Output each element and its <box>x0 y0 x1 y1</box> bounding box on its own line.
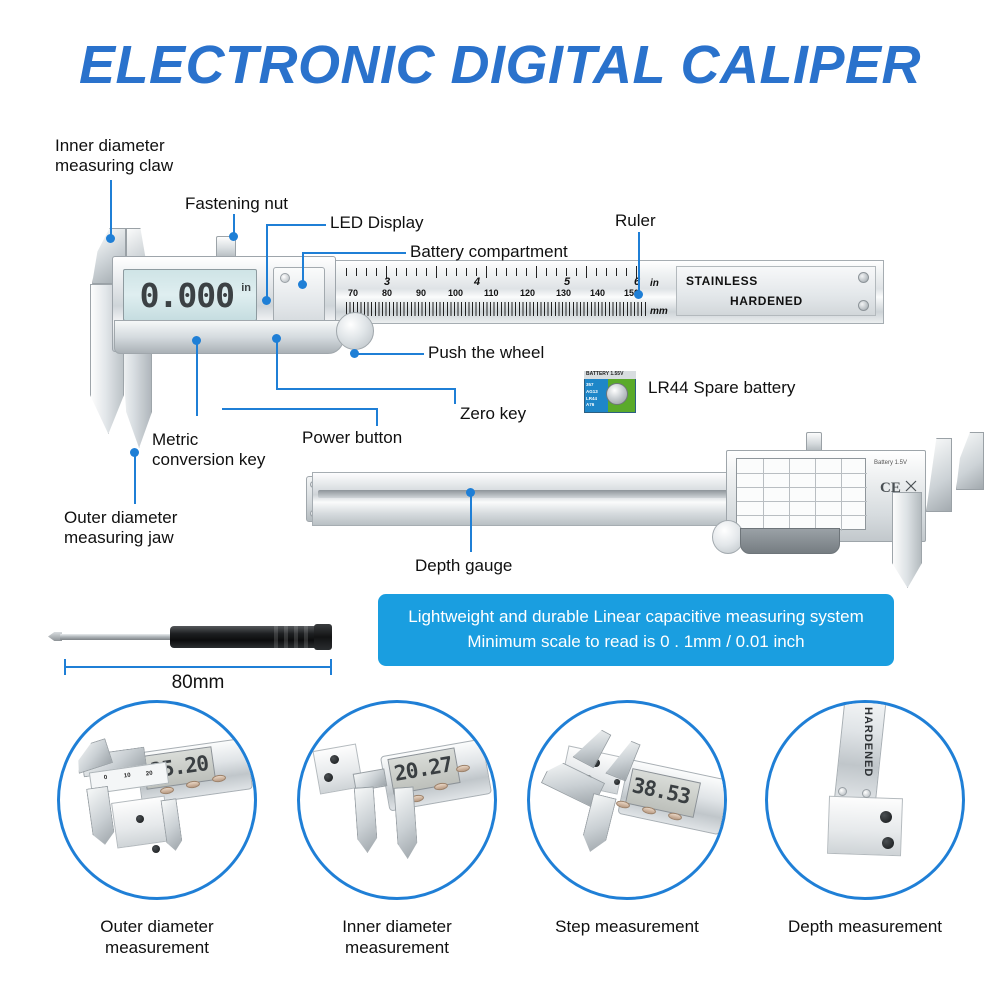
leader-line <box>302 252 406 254</box>
use-case-outer-diameter: 35.20 0 10 20 Outer diameter measurement <box>42 700 272 959</box>
lock-clamp[interactable] <box>740 528 840 554</box>
label-battery-compartment: Battery compartment <box>410 242 568 262</box>
upper-jaw-back <box>926 438 952 512</box>
use-case-caption: Outer diameter measurement <box>42 916 272 959</box>
ruler-inch-label: 5 <box>564 276 570 288</box>
ruler-unit-inch: in <box>650 278 659 289</box>
slider-body <box>114 320 344 354</box>
leader-dot <box>106 234 115 243</box>
ruler-scale: 3 4 5 6 70 80 90 100 110 120 130 140 150 <box>346 262 646 322</box>
use-case-photo: 38.53 <box>527 700 727 900</box>
use-case-gallery: 35.20 0 10 20 Outer diameter measurement <box>0 700 1000 1000</box>
use-case-inner-diameter: 20.27 Inner diameter measurement <box>282 700 512 959</box>
label-led-display: LED Display <box>330 213 424 233</box>
hardened-text: HARDENED <box>730 294 803 308</box>
ruler-mm-label: 120 <box>520 288 535 298</box>
use-case-caption: Step measurement <box>512 916 742 937</box>
use-case-photo: 35.20 0 10 20 <box>57 700 257 900</box>
ruler-mm-label: 80 <box>382 288 392 298</box>
label-fastening-nut: Fastening nut <box>185 194 288 214</box>
leader-line <box>356 353 424 355</box>
hardened-text-depth: HARDENED <box>862 707 874 777</box>
leader-dot <box>192 336 201 345</box>
leader-line <box>276 388 456 390</box>
label-metric-key: Metric conversion key <box>152 430 265 470</box>
label-outer-jaw: Outer diameter measuring jaw <box>64 508 177 548</box>
ruler-inch-label: 3 <box>384 276 390 288</box>
ruler-mm-label: 70 <box>348 288 358 298</box>
leader-line <box>134 452 136 504</box>
leader-dot <box>298 280 307 289</box>
leader-line <box>470 492 472 552</box>
leader-line <box>638 232 640 294</box>
battery-note-back: Battery 1.5V <box>874 460 907 466</box>
label-push-wheel: Push the wheel <box>428 343 544 363</box>
ruler-unit-mm: mm <box>650 306 668 317</box>
leader-line <box>454 388 456 404</box>
weee-bin-icon <box>904 476 918 494</box>
label-spare-battery: LR44 Spare battery <box>648 378 795 398</box>
battery-card-top-text: BATTERY 1.55V <box>586 371 623 377</box>
lr44-battery-image: BATTERY 1.55V 357AG13LR44A76 <box>584 371 636 413</box>
leader-line <box>222 408 378 410</box>
caliper-back-view: Battery 1.5V CE <box>296 432 996 592</box>
use-case-caption: Depth measurement <box>750 916 980 937</box>
page-title: ELECTRONIC DIGITAL CALIPER <box>0 34 1000 96</box>
leader-dot <box>130 448 139 457</box>
leader-dot <box>466 488 475 497</box>
lower-jaw-back <box>892 492 922 588</box>
leader-dot <box>350 349 359 358</box>
leader-dot <box>272 334 281 343</box>
ruler-mm-label: 130 <box>556 288 571 298</box>
battery-card-codes: 357AG13LR44A76 <box>586 382 598 409</box>
feature-callout-box: Lightweight and durable Linear capacitiv… <box>378 594 894 666</box>
leader-line <box>110 180 112 238</box>
ruler-mm-label: 140 <box>590 288 605 298</box>
leader-dot <box>262 296 271 305</box>
label-inner-claw: Inner diameter measuring claw <box>55 136 173 176</box>
fastening-nut-back <box>806 432 822 452</box>
screwdriver-image: 80mm <box>42 604 352 694</box>
conversion-table <box>736 458 866 530</box>
label-depth-gauge: Depth gauge <box>415 556 512 576</box>
push-wheel[interactable] <box>336 312 374 350</box>
leader-line <box>266 224 326 226</box>
screwdriver-shaft <box>60 634 176 640</box>
leader-dot <box>229 232 238 241</box>
leader-line <box>276 338 278 390</box>
screw-icon <box>858 272 869 283</box>
ruler-mm-label: 90 <box>416 288 426 298</box>
leader-dot <box>634 290 643 299</box>
lcd-unit: in <box>241 282 251 294</box>
use-case-caption: Inner diameter measurement <box>282 916 512 959</box>
use-case-depth: HARDENED Depth measurement <box>750 700 980 937</box>
use-case-step: 38.53 Step measurement <box>512 700 742 937</box>
label-ruler: Ruler <box>615 211 656 231</box>
leader-line <box>266 224 268 302</box>
lcd-display: 0.000 in <box>123 269 257 321</box>
leader-line <box>376 408 378 426</box>
screwdriver-cap <box>314 624 332 650</box>
stainless-text: STAINLESS <box>686 274 758 288</box>
product-infographic: ELECTRONIC DIGITAL CALIPER <box>0 0 1000 1000</box>
screw-icon <box>858 300 869 311</box>
label-zero-key: Zero key <box>460 404 526 424</box>
leader-line <box>196 340 198 416</box>
ruler-inch-label: 4 <box>474 276 480 288</box>
feature-callout-text: Lightweight and durable Linear capacitiv… <box>378 605 894 654</box>
button-cell <box>606 383 628 405</box>
use-case-photo: HARDENED <box>765 700 965 900</box>
claw-back <box>956 432 984 490</box>
screw-icon <box>280 273 290 283</box>
dimension-line <box>64 666 332 668</box>
lcd-value: 0.000 <box>140 276 234 315</box>
ruler-mm-label: 100 <box>448 288 463 298</box>
ruler-mm-label: 110 <box>484 288 499 298</box>
screwdriver-dimension: 80mm <box>64 672 332 694</box>
use-case-photo: 20.27 <box>297 700 497 900</box>
